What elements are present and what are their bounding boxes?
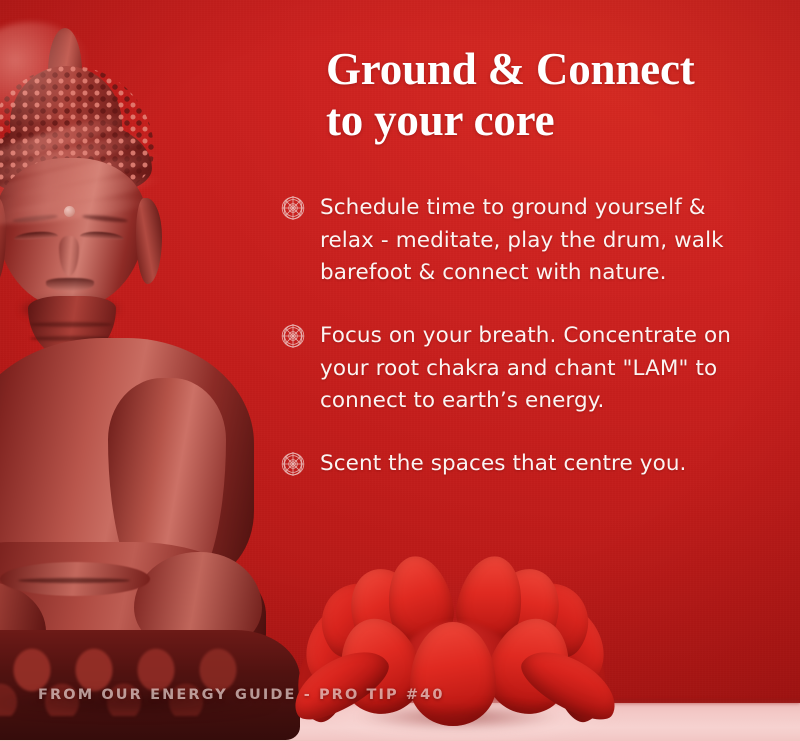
tip-text: Focus on your breath. Concentrate on you…	[320, 320, 732, 418]
tips-list: Schedule time to ground yourself & relax…	[280, 192, 732, 481]
buddha-statue	[0, 22, 296, 722]
page-title-line-2: to your core	[326, 95, 554, 145]
page-title-line-1: Ground & Connect	[326, 44, 695, 94]
tip-text: Schedule time to ground yourself & relax…	[320, 192, 732, 290]
tip-item: Focus on your breath. Concentrate on you…	[280, 320, 732, 418]
content-column: Ground & Connectto your core	[326, 0, 738, 741]
ear-right	[136, 198, 162, 284]
hands-shadow-line	[18, 578, 130, 583]
tip-item: Scent the spaces that centre you.	[280, 448, 732, 481]
chakra-mandala-icon	[280, 195, 306, 221]
poster-canvas: Ground & Connectto your core	[0, 0, 800, 741]
chakra-mandala-icon	[280, 323, 306, 349]
tip-text: Scent the spaces that centre you.	[320, 448, 732, 481]
chakra-mandala-icon	[280, 451, 306, 477]
page-title: Ground & Connectto your core	[326, 44, 726, 146]
tip-item: Schedule time to ground yourself & relax…	[280, 192, 732, 290]
footer-caption: FROM OUR ENERGY GUIDE - PRO TIP #40	[38, 687, 445, 703]
neck-ring-upper	[30, 322, 112, 327]
